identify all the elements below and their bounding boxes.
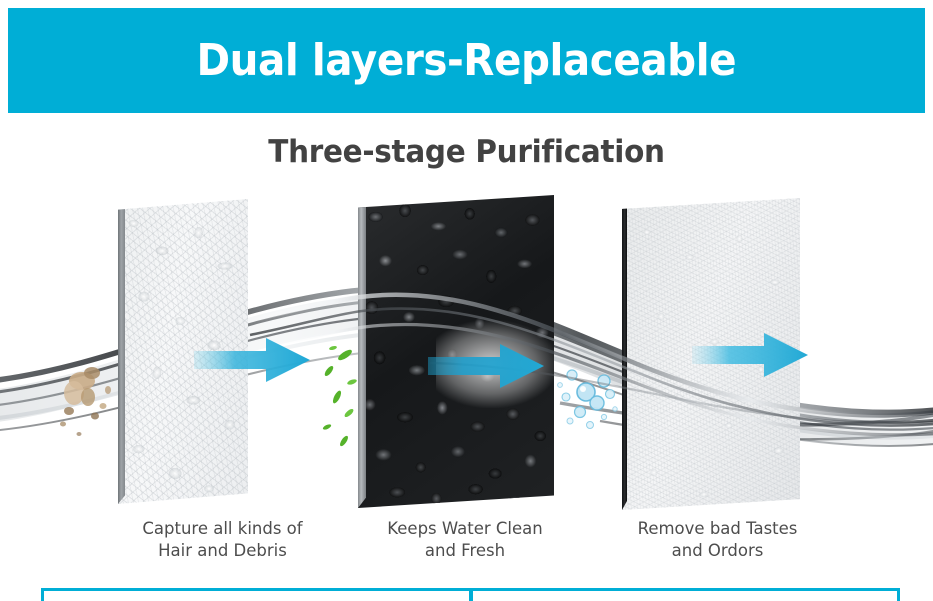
stage-1-flow-arrow	[194, 336, 310, 384]
stage-3-panel-edge	[622, 198, 627, 510]
stage-2-caption-line-2: and Fresh	[360, 540, 570, 562]
bottom-box-left	[41, 588, 471, 601]
banner-title: Dual layers-Replaceable	[197, 35, 737, 86]
stage-2-panel-edge	[358, 195, 366, 508]
section-subtitle: Three-stage Purification	[23, 134, 909, 170]
header-banner: Dual layers-Replaceable	[8, 8, 925, 113]
bottom-panel-group	[41, 588, 900, 601]
stage-1-caption: Capture all kinds of Hair and Debris	[110, 518, 335, 562]
stage-captions: Capture all kinds of Hair and Debris Kee…	[0, 518, 933, 568]
stage-3-caption-line-2: and Ordors	[610, 540, 825, 562]
stage-2-flow-arrow	[428, 342, 544, 390]
three-stage-filtration-illustration	[0, 185, 933, 520]
stage-3-flow-arrow	[692, 331, 808, 379]
bottom-box-right	[471, 588, 900, 601]
stage-1-caption-line-1: Capture all kinds of	[110, 518, 335, 540]
stage-3-caption-line-1: Remove bad Tastes	[610, 518, 825, 540]
stage-3-caption: Remove bad Tastes and Ordors	[610, 518, 825, 562]
stage-1-caption-line-2: Hair and Debris	[110, 540, 335, 562]
stage-1-panel-edge	[118, 199, 125, 504]
stage-2-caption-line-1: Keeps Water Clean	[360, 518, 570, 540]
stage-2-caption: Keeps Water Clean and Fresh	[360, 518, 570, 562]
